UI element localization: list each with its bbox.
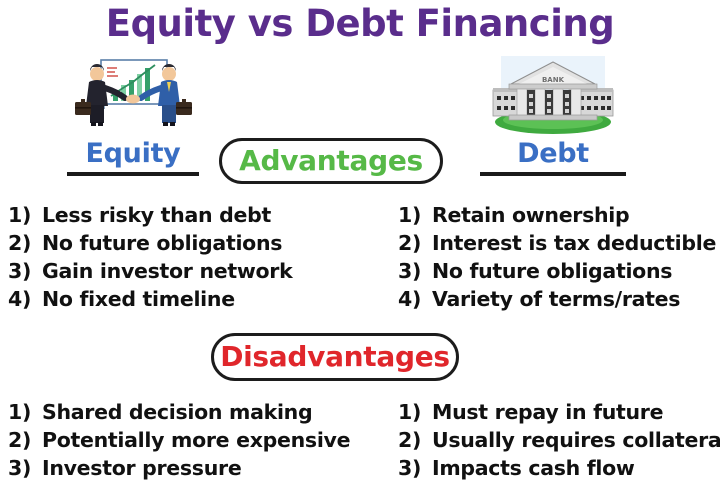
list-item-number: 4) [398,287,432,311]
list-item-text: Must repay in future [432,400,663,424]
list-item-number: 3) [8,456,42,480]
list-item: 3) Gain investor network [8,259,292,287]
list-item: 3) Impacts cash flow [398,456,720,484]
equity-column-header: Equity [28,56,238,176]
list-item-number: 4) [8,287,42,311]
list-item-text: Variety of terms/rates [432,287,680,311]
bank-pediment-text: BANK [542,76,565,84]
debt-disadvantages-list: 1) Must repay in future 2) Usually requi… [398,400,720,484]
list-item: 3) No future obligations [398,259,716,287]
list-item-text: No fixed timeline [42,287,235,311]
list-item: 3) Investor pressure [8,456,350,484]
list-item-text: Less risky than debt [42,203,271,227]
list-item-number: 2) [398,231,432,255]
list-item-text: Shared decision making [42,400,312,424]
list-item-number: 1) [398,203,432,227]
list-item-text: Potentially more expensive [42,428,350,452]
list-item-text: No future obligations [432,259,672,283]
debt-underline [480,172,626,176]
list-item: 1) Retain ownership [398,203,716,231]
list-item-text: No future obligations [42,231,282,255]
advantages-pill: Advantages [219,138,443,184]
advantages-pill-label: Advantages [239,147,423,175]
list-item-number: 2) [398,428,432,452]
list-item-number: 1) [8,400,42,424]
debt-advantages-list: 1) Retain ownership 2) Interest is tax d… [398,203,716,315]
list-item: 2) Interest is tax deductible [398,231,716,259]
list-item-number: 3) [398,456,432,480]
list-item-text: Investor pressure [42,456,241,480]
equity-disadvantages-list: 1) Shared decision making 2) Potentially… [8,400,350,484]
list-item-text: Usually requires collateral [432,428,720,452]
handshake-businessmen-chart-icon [63,56,203,138]
list-item-text: Gain investor network [42,259,292,283]
bank-building-icon: BANK [483,56,623,138]
list-item: 4) Variety of terms/rates [398,287,716,315]
list-item-text: Retain ownership [432,203,629,227]
list-item: 4) No fixed timeline [8,287,292,315]
page-title: Equity vs Debt Financing [0,2,720,45]
list-item-text: Impacts cash flow [432,456,635,480]
list-item-number: 2) [8,428,42,452]
list-item: 2) No future obligations [8,231,292,259]
list-item: 1) Shared decision making [8,400,350,428]
disadvantages-pill: Disadvantages [211,333,459,381]
debt-column-header: BANK Debt [448,56,658,176]
list-item-number: 3) [398,259,432,283]
list-item-number: 3) [8,259,42,283]
list-item-number: 2) [8,231,42,255]
list-item: 1) Must repay in future [398,400,720,428]
list-item: 2) Potentially more expensive [8,428,350,456]
disadvantages-pill-label: Disadvantages [220,343,450,371]
equity-underline [67,172,199,176]
list-item: 2) Usually requires collateral [398,428,720,456]
list-item-number: 1) [8,203,42,227]
list-item: 1) Less risky than debt [8,203,292,231]
equity-label: Equity [28,140,238,167]
debt-label: Debt [448,140,658,167]
list-item-number: 1) [398,400,432,424]
list-item-text: Interest is tax deductible [432,231,716,255]
equity-advantages-list: 1) Less risky than debt 2) No future obl… [8,203,292,315]
